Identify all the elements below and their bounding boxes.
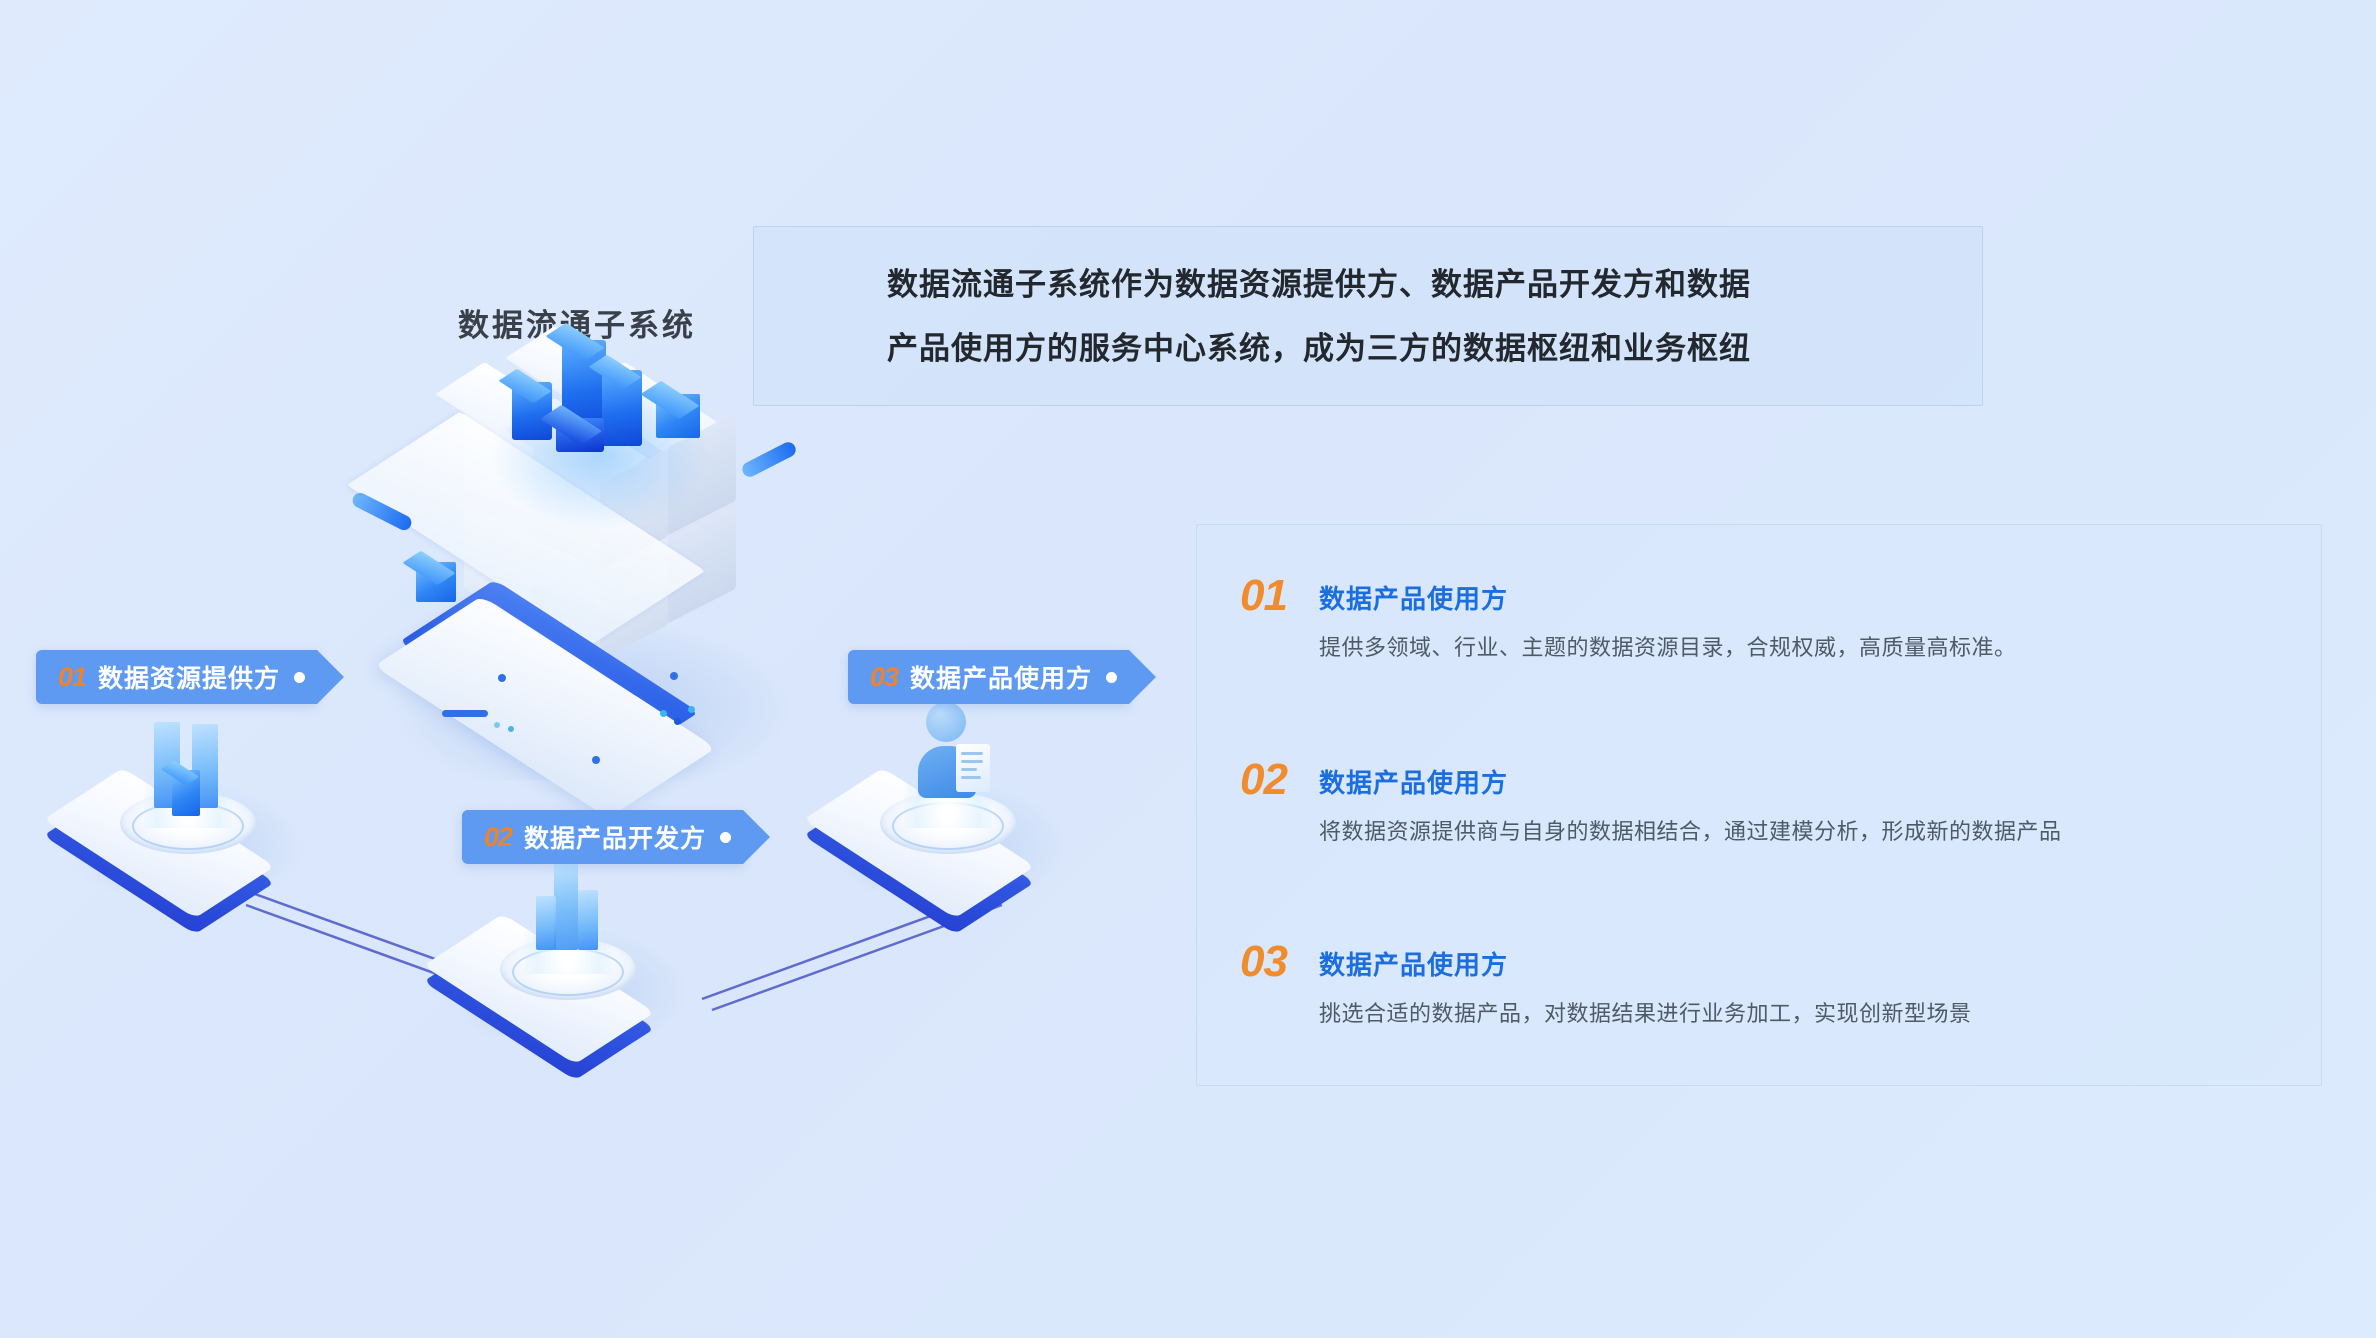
pill-data-consumer[interactable]: 03 数据产品使用方 bbox=[848, 650, 1129, 704]
led-indicator bbox=[592, 756, 600, 764]
info-item-description: 挑选合适的数据产品，对数据结果进行业务加工，实现创新型场景 bbox=[1319, 997, 2279, 1031]
glass-tower bbox=[536, 896, 556, 950]
central-data-cube-illustration bbox=[370, 370, 810, 780]
glass-tower bbox=[578, 890, 598, 950]
info-item-number: 03 bbox=[1240, 937, 1287, 987]
pill-label: 数据资源提供方 bbox=[98, 659, 280, 695]
document-icon bbox=[956, 744, 990, 792]
led-indicator bbox=[688, 706, 695, 713]
led-indicator bbox=[498, 674, 506, 682]
glass-tower bbox=[554, 858, 578, 950]
data-consumer-node bbox=[818, 740, 1078, 890]
pill-dot-icon bbox=[1106, 672, 1117, 683]
pill-data-provider[interactable]: 01 数据资源提供方 bbox=[36, 650, 317, 704]
info-item-heading: 数据产品使用方 bbox=[1319, 945, 1508, 982]
led-indicator bbox=[660, 710, 667, 717]
info-item-number: 01 bbox=[1240, 571, 1287, 621]
info-item-heading: 数据产品使用方 bbox=[1319, 579, 1508, 616]
pill-number: 02 bbox=[484, 822, 512, 853]
led-indicator bbox=[674, 718, 681, 725]
info-item-description: 将数据资源提供商与自身的数据相结合，通过建模分析，形成新的数据产品 bbox=[1319, 815, 2279, 849]
info-item-number: 02 bbox=[1240, 755, 1287, 805]
data-provider-node bbox=[58, 740, 318, 890]
info-item-description: 提供多领域、行业、主题的数据资源目录，合规权威，高质量高标准。 bbox=[1319, 631, 2279, 665]
pill-number: 03 bbox=[870, 662, 898, 693]
led-indicator bbox=[494, 722, 500, 728]
pill-label: 数据产品开发方 bbox=[524, 819, 706, 855]
person-head-icon bbox=[926, 702, 966, 742]
data-developer-node bbox=[438, 886, 698, 1036]
pill-label: 数据产品使用方 bbox=[910, 659, 1092, 695]
slide-canvas: 数据流通子系统作为数据资源提供方、数据产品开发方和数据 产品使用方的服务中心系统… bbox=[0, 0, 2376, 1338]
info-panel: 01 数据产品使用方 提供多领域、行业、主题的数据资源目录，合规权威，高质量高标… bbox=[1196, 524, 2322, 1086]
pill-number: 01 bbox=[58, 662, 86, 693]
info-item-heading: 数据产品使用方 bbox=[1319, 763, 1508, 800]
led-indicator bbox=[670, 672, 678, 680]
device-port bbox=[442, 710, 488, 717]
led-indicator bbox=[508, 726, 514, 732]
pill-dot-icon bbox=[720, 832, 731, 843]
pill-dot-icon bbox=[294, 672, 305, 683]
pill-data-developer[interactable]: 02 数据产品开发方 bbox=[462, 810, 743, 864]
connector-stick-right bbox=[740, 440, 798, 480]
